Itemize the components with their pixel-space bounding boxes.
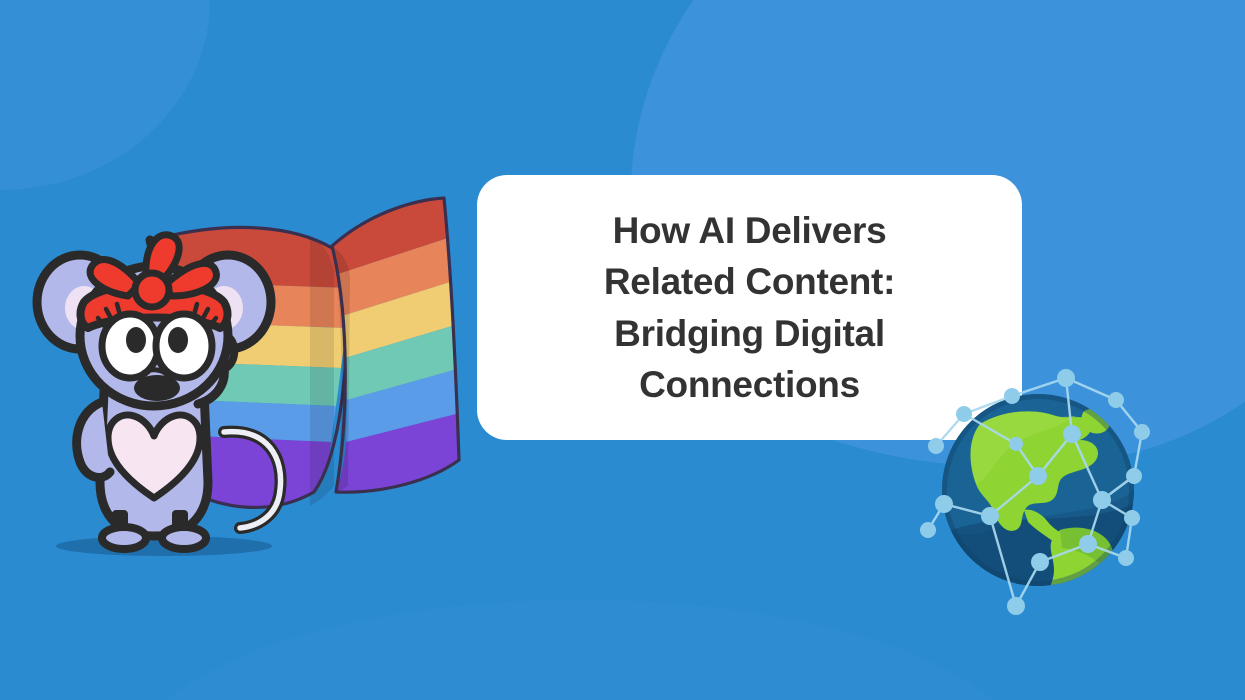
poster-canvas: How AI Delivers Related Content: Bridgin… xyxy=(0,0,1245,700)
mouse-nose xyxy=(134,375,180,401)
page-title: How AI Delivers Related Content: Bridgin… xyxy=(578,205,921,409)
background-blob-bottom xyxy=(130,600,1030,700)
background-blob-top-left xyxy=(0,0,210,190)
mouse-mascot-illustration xyxy=(32,196,502,576)
mouse-foot-left xyxy=(102,527,146,549)
mouse-pupil-right xyxy=(168,327,188,353)
mouse-foot-right xyxy=(162,527,206,549)
network-globe-illustration xyxy=(920,358,1155,593)
mouse-pupil-left xyxy=(126,327,146,353)
